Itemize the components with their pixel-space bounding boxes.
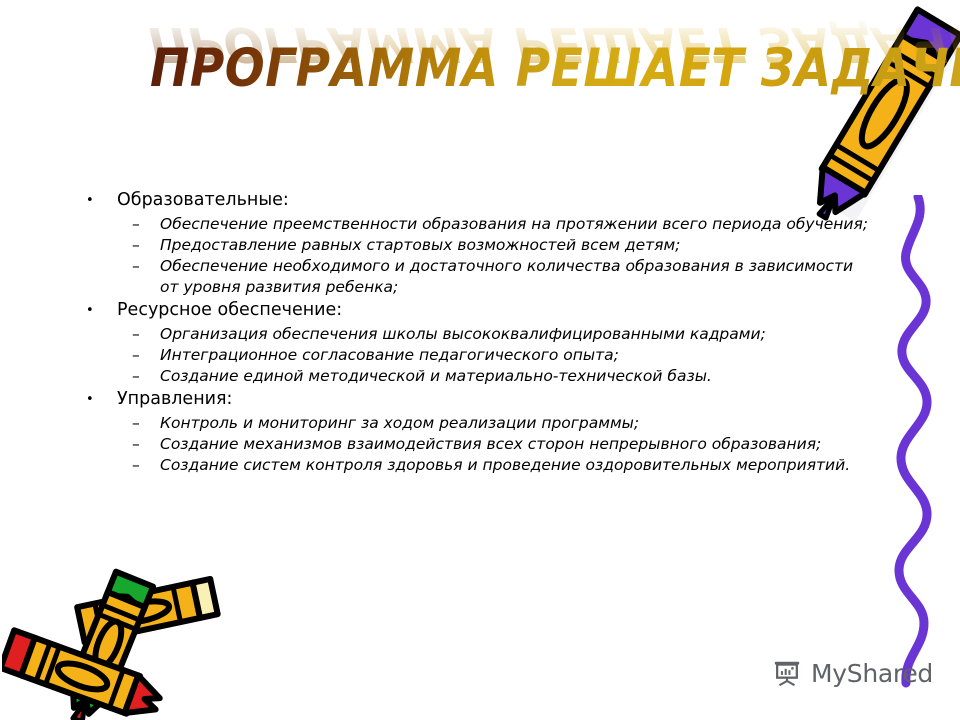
slide-canvas: ПРОГРАММА РЕШАЕТ ЗАДАЧИ: ПРОГРАММА РЕШАЕ… <box>0 0 960 720</box>
sub-item-text: Создание единой методической и материаль… <box>160 367 712 385</box>
dash-marker: – <box>132 366 140 387</box>
sub-item-text: Контроль и мониторинг за ходом реализаци… <box>160 414 639 432</box>
sub-item-text: Создание систем контроля здоровья и пров… <box>160 456 850 474</box>
bullet-marker: • <box>86 188 94 213</box>
dash-marker: – <box>132 345 140 366</box>
list-item-level2: – Создание систем контроля здоровья и пр… <box>80 455 870 476</box>
slide-title-text: ПРОГРАММА РЕШАЕТ ЗАДАЧИ: <box>150 38 960 100</box>
section-heading: Управления: <box>117 389 232 409</box>
list-item-level1: • Образовательные: <box>80 188 870 213</box>
purple-wavy-line-icon <box>880 195 960 695</box>
slide-title: ПРОГРАММА РЕШАЕТ ЗАДАЧИ: ПРОГРАММА РЕШАЕ… <box>150 38 750 158</box>
list-item-level2: – Интеграционное согласование педагогиче… <box>80 345 870 366</box>
dash-marker: – <box>132 256 140 277</box>
myshared-watermark: MyShared <box>772 658 933 688</box>
dash-marker: – <box>132 413 140 434</box>
sub-item-text: Организация обеспечения школы высококвал… <box>160 325 766 343</box>
list-item-level2: – Предоставление равных стартовых возмож… <box>80 235 870 256</box>
presentation-screen-icon <box>772 658 802 688</box>
section-heading: Ресурсное обеспечение: <box>117 300 342 320</box>
dash-marker: – <box>132 324 140 345</box>
list-item-level2: – Создание единой методической и материа… <box>80 366 870 387</box>
dash-marker: – <box>132 214 140 235</box>
list-item-level2: – Обеспечение преемственности образовани… <box>80 214 870 235</box>
crossed-crayons-icon <box>2 560 227 720</box>
section-heading: Образовательные: <box>117 190 289 210</box>
sub-item-text: Интеграционное согласование педагогическ… <box>160 346 619 364</box>
bullet-marker: • <box>86 387 94 412</box>
sub-item-text: Обеспечение преемственности образования … <box>160 215 868 233</box>
list-item-level2: – Организация обеспечения школы высококв… <box>80 324 870 345</box>
sub-item-text: Предоставление равных стартовых возможно… <box>160 236 680 254</box>
list-item-level2: – Обеспечение необходимого и достаточног… <box>80 256 870 298</box>
dash-marker: – <box>132 455 140 476</box>
sub-item-text: Создание механизмов взаимодействия всех … <box>160 435 821 453</box>
sub-item-text: Обеспечение необходимого и достаточного … <box>160 257 853 296</box>
list-item-level1: • Ресурсное обеспечение: <box>80 298 870 323</box>
bullet-list: • Образовательные: – Обеспечение преемст… <box>80 188 870 476</box>
bullet-marker: • <box>86 298 94 323</box>
dash-marker: – <box>132 235 140 256</box>
myshared-label: MyShared <box>811 659 933 688</box>
list-item-level2: – Контроль и мониторинг за ходом реализа… <box>80 413 870 434</box>
list-item-level2: – Создание механизмов взаимодействия все… <box>80 434 870 455</box>
list-item-level1: • Управления: <box>80 387 870 412</box>
dash-marker: – <box>132 434 140 455</box>
